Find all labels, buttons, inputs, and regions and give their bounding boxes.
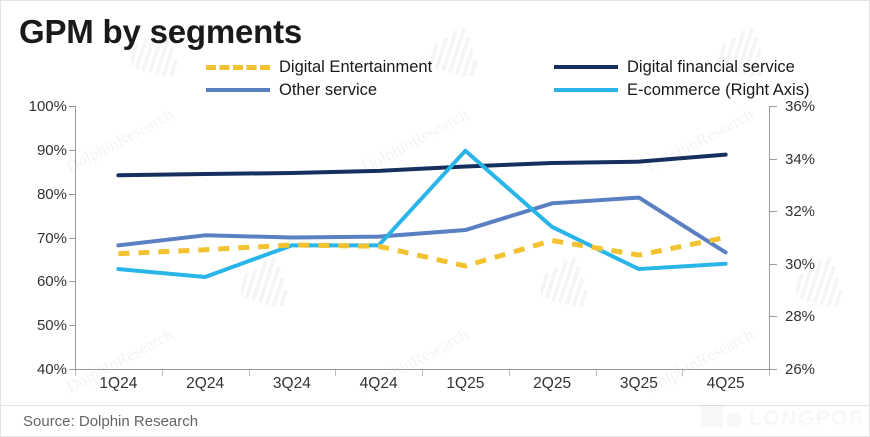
legend-label: Digital financial service <box>627 59 795 76</box>
x-axis-tick <box>162 370 163 376</box>
x-axis-tick-label: 3Q24 <box>252 375 332 394</box>
divider <box>1 405 870 406</box>
y-axis-right-tick-label: 28% <box>785 309 837 324</box>
legend-item-digital-entertainment[interactable]: Digital Entertainment <box>206 59 554 76</box>
y-axis-left-tick-label: 80% <box>15 187 67 202</box>
y-axis-right-tick <box>770 159 777 160</box>
x-axis-tick <box>75 370 76 376</box>
series-line-other-service <box>118 198 725 253</box>
legend-label: Other service <box>279 82 377 99</box>
x-axis-tick <box>509 370 510 376</box>
source-note: Source: Dolphin Research <box>23 413 198 430</box>
x-axis-tick <box>682 370 683 376</box>
x-axis-tick-label: 3Q25 <box>599 375 679 394</box>
legend-swatch-icon <box>554 65 618 69</box>
x-axis-tick <box>249 370 250 376</box>
y-axis-right-tick <box>770 264 777 265</box>
y-axis-left-tick-label: 100% <box>15 99 67 114</box>
chart-figure: DolphinResearch DolphinResearch DolphinR… <box>0 0 870 437</box>
legend-item-e-commerce[interactable]: E-commerce (Right Axis) <box>554 82 846 99</box>
y-axis-right-tick-label: 26% <box>785 362 837 377</box>
y-axis-right-tick-label: 32% <box>785 204 837 219</box>
x-axis-tick-label: 1Q25 <box>425 375 505 394</box>
x-axis-tick <box>422 370 423 376</box>
plot-lines <box>75 106 769 370</box>
y-axis-right-tick <box>770 106 777 107</box>
x-axis-tick-label: 1Q24 <box>78 375 158 394</box>
x-axis-tick <box>596 370 597 376</box>
y-axis-right-labels: 36%34%32%30%28%26% <box>785 106 845 370</box>
longport-logo: LONGPORT <box>701 401 861 435</box>
y-axis-left-labels: 100%90%80%70%60%50%40% <box>9 106 67 370</box>
y-axis-right-tick <box>770 211 777 212</box>
legend-label: Digital Entertainment <box>279 59 432 76</box>
y-axis-left-tick-label: 90% <box>15 143 67 158</box>
series-line-digital-financial-service <box>118 155 725 176</box>
y-axis-right-line <box>769 106 770 370</box>
y-axis-left-tick-label: 40% <box>15 362 67 377</box>
y-axis-left-tick-label: 60% <box>15 274 67 289</box>
legend-swatch-icon <box>206 65 270 70</box>
legend-label: E-commerce (Right Axis) <box>627 82 809 99</box>
y-axis-right-tick <box>770 316 777 317</box>
y-axis-left-tick-label: 50% <box>15 318 67 333</box>
x-axis-tick-label: 4Q24 <box>339 375 419 394</box>
x-axis-tick-label: 4Q25 <box>686 375 766 394</box>
legend-swatch-icon <box>554 88 618 92</box>
y-axis-right-tick-label: 34% <box>785 152 837 167</box>
legend-item-other-service[interactable]: Other service <box>206 82 554 99</box>
x-axis-tick <box>335 370 336 376</box>
x-axis-tick <box>769 370 770 376</box>
x-axis-tick-label: 2Q24 <box>165 375 245 394</box>
y-axis-right-tick-label: 36% <box>785 99 837 114</box>
y-axis-right-tick <box>770 369 777 370</box>
legend-swatch-icon <box>206 88 270 92</box>
series-line-digital-entertainment <box>118 238 725 266</box>
x-axis-tick-label: 2Q25 <box>512 375 592 394</box>
chart-legend: Digital Entertainment Digital financial … <box>206 59 846 98</box>
legend-item-digital-financial-service[interactable]: Digital financial service <box>554 59 846 76</box>
page-title: GPM by segments <box>19 13 302 51</box>
longport-text: LONGPORT <box>749 407 861 430</box>
y-axis-left-tick-label: 70% <box>15 231 67 246</box>
y-axis-right-tick-label: 30% <box>785 257 837 272</box>
